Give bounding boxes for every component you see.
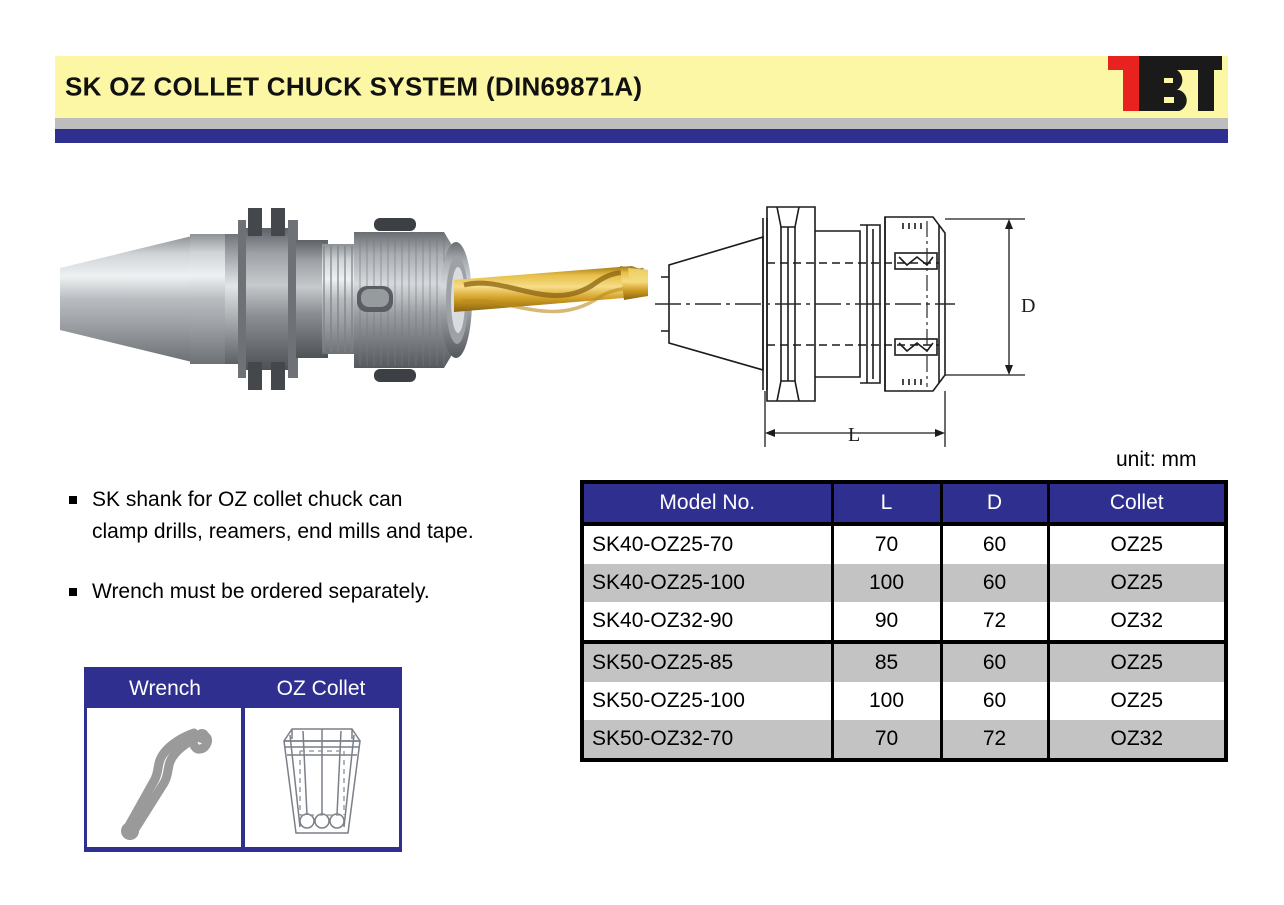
spec-table-container: Model No. L D Collet SK40-OZ25-70 70 60 … xyxy=(580,480,1228,762)
cell-collet: OZ32 xyxy=(1048,720,1224,758)
table-row: SK50-OZ32-70 70 72 OZ32 xyxy=(584,720,1224,758)
cell-collet: OZ25 xyxy=(1048,564,1224,602)
oz-collet-icon xyxy=(260,711,384,845)
feature-item-1-line-2: clamp drills, reamers, end mills and tap… xyxy=(92,516,566,548)
product-photo xyxy=(52,190,652,405)
bullet-square-icon xyxy=(69,588,77,596)
tbt-logo xyxy=(1106,54,1224,114)
cell-l: 90 xyxy=(832,602,941,642)
cell-collet: OZ32 xyxy=(1048,602,1224,642)
oz-collet-cell xyxy=(245,708,399,847)
cell-l: 100 xyxy=(832,682,941,720)
feature-list: SK shank for OZ collet chuck can clamp d… xyxy=(66,484,566,608)
feature-item-2-line-1: Wrench must be ordered separately. xyxy=(92,576,566,608)
cell-d: 60 xyxy=(941,682,1048,720)
cell-l: 85 xyxy=(832,642,941,682)
cell-l: 70 xyxy=(832,720,941,758)
cell-model: SK40-OZ25-70 xyxy=(584,524,832,564)
table-row: SK40-OZ25-100 100 60 OZ25 xyxy=(584,564,1224,602)
unit-label: unit: mm xyxy=(1116,448,1197,472)
dimension-label-l: L xyxy=(848,424,860,446)
cell-l: 70 xyxy=(832,524,941,564)
cell-model: SK50-OZ25-85 xyxy=(584,642,832,682)
cell-collet: OZ25 xyxy=(1048,524,1224,564)
col-header-collet: Collet xyxy=(1048,484,1224,524)
header-gray-divider xyxy=(55,118,1228,129)
cell-d: 72 xyxy=(941,720,1048,758)
page-title: SK OZ COLLET CHUCK SYSTEM (DIN69871A) xyxy=(65,72,642,103)
header-banner: SK OZ COLLET CHUCK SYSTEM (DIN69871A) xyxy=(55,56,1228,118)
col-header-l: L xyxy=(832,484,941,524)
accessory-header-row: Wrench OZ Collet xyxy=(87,670,399,708)
cell-d: 72 xyxy=(941,602,1048,642)
tbt-logo-icon xyxy=(1106,54,1224,114)
table-row: SK40-OZ32-90 90 72 OZ32 xyxy=(584,602,1224,642)
dimension-label-d: D xyxy=(1021,295,1035,317)
accessory-header-collet: OZ Collet xyxy=(243,670,399,708)
feature-item-1-line-1: SK shank for OZ collet chuck can xyxy=(92,484,566,516)
header-blue-divider xyxy=(55,129,1228,143)
hook-wrench-icon xyxy=(94,711,234,845)
collet-chuck-photo-illustration xyxy=(52,190,652,405)
accessory-box: Wrench OZ Collet xyxy=(84,667,402,852)
cell-model: SK40-OZ32-90 xyxy=(584,602,832,642)
cell-d: 60 xyxy=(941,524,1048,564)
bullet-square-icon xyxy=(69,496,77,504)
table-header-row: Model No. L D Collet xyxy=(584,484,1224,524)
cell-model: SK50-OZ25-100 xyxy=(584,682,832,720)
cell-collet: OZ25 xyxy=(1048,682,1224,720)
cell-d: 60 xyxy=(941,564,1048,602)
accessory-header-wrench: Wrench xyxy=(87,670,243,708)
technical-drawing: D L xyxy=(655,185,1255,460)
dimensioned-line-drawing: D L xyxy=(655,185,1255,460)
cell-collet: OZ25 xyxy=(1048,642,1224,682)
col-header-model: Model No. xyxy=(584,484,832,524)
table-row: SK50-OZ25-85 85 60 OZ25 xyxy=(584,642,1224,682)
cell-l: 100 xyxy=(832,564,941,602)
col-header-d: D xyxy=(941,484,1048,524)
table-row: SK50-OZ25-100 100 60 OZ25 xyxy=(584,682,1224,720)
wrench-cell xyxy=(87,708,241,847)
spec-table: Model No. L D Collet SK40-OZ25-70 70 60 … xyxy=(584,484,1224,758)
table-row: SK40-OZ25-70 70 60 OZ25 xyxy=(584,524,1224,564)
feature-item-2: Wrench must be ordered separately. xyxy=(66,576,566,608)
accessory-body-row xyxy=(87,708,399,849)
cell-model: SK50-OZ32-70 xyxy=(584,720,832,758)
cell-model: SK40-OZ25-100 xyxy=(584,564,832,602)
feature-item-1: SK shank for OZ collet chuck can clamp d… xyxy=(66,484,566,548)
cell-d: 60 xyxy=(941,642,1048,682)
